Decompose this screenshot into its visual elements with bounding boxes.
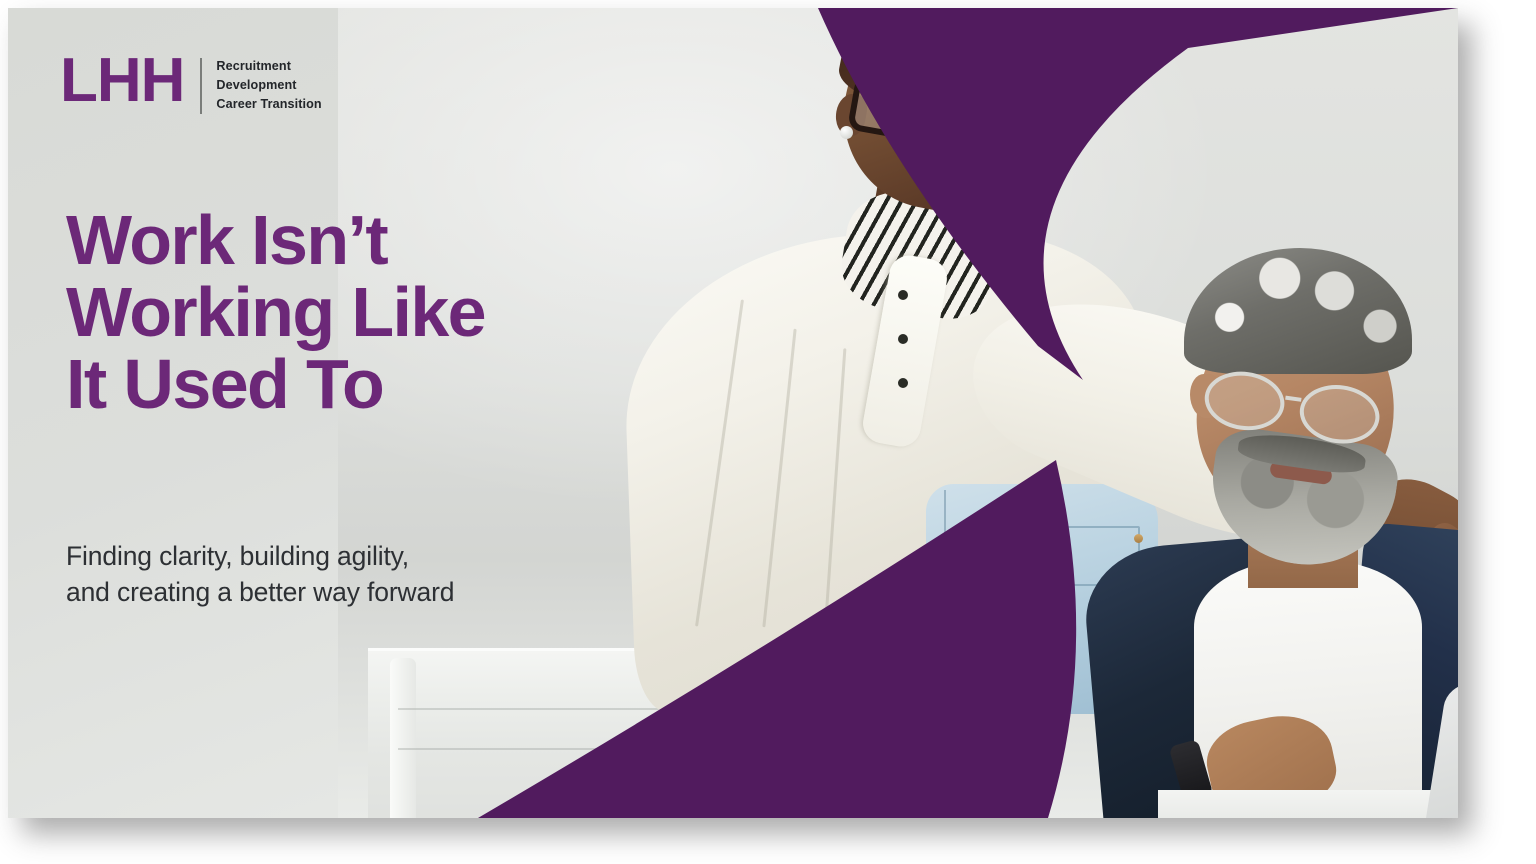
- page-title: Work Isn’t Working Like It Used To: [66, 204, 626, 420]
- logo-divider: [200, 58, 202, 114]
- desk-surface: [1158, 790, 1458, 818]
- glasses-lens-left: [1201, 367, 1288, 436]
- jacket-button: [898, 290, 908, 300]
- man-hair: [1184, 248, 1412, 374]
- standing-woman: [638, 8, 1118, 698]
- page-subtitle: Finding clarity, building agility, and c…: [66, 539, 646, 610]
- headline-line-1: Work Isn’t: [66, 204, 626, 276]
- glasses-bridge: [936, 102, 951, 110]
- jacket-button: [898, 334, 908, 344]
- jeans-rivet: [1050, 522, 1059, 531]
- subtitle-line-2: and creating a better way forward: [66, 575, 646, 611]
- jacket-button: [898, 378, 908, 388]
- tagline-line-2: Development: [216, 76, 321, 95]
- tagline-line-3: Career Transition: [216, 95, 321, 114]
- lhh-logo[interactable]: LHH Recruitment Development Career Trans…: [60, 54, 322, 114]
- logo-wordmark: LHH: [60, 54, 184, 107]
- left-text-panel: LHH Recruitment Development Career Trans…: [8, 8, 628, 818]
- glasses-lens-right: [1296, 380, 1383, 449]
- subtitle-line-1: Finding clarity, building agility,: [66, 539, 646, 575]
- jeans-pocket: [954, 540, 1046, 636]
- glasses-bridge: [1285, 396, 1301, 402]
- headline-line-2: Working Like: [66, 276, 626, 348]
- slide-card: LHH Recruitment Development Career Trans…: [8, 8, 1458, 818]
- seated-man: [1098, 248, 1458, 818]
- tagline-line-1: Recruitment: [216, 57, 321, 76]
- headline-line-3: It Used To: [66, 348, 626, 420]
- jeans-seam: [944, 490, 946, 700]
- logo-tagline: Recruitment Development Career Transitio…: [216, 54, 321, 114]
